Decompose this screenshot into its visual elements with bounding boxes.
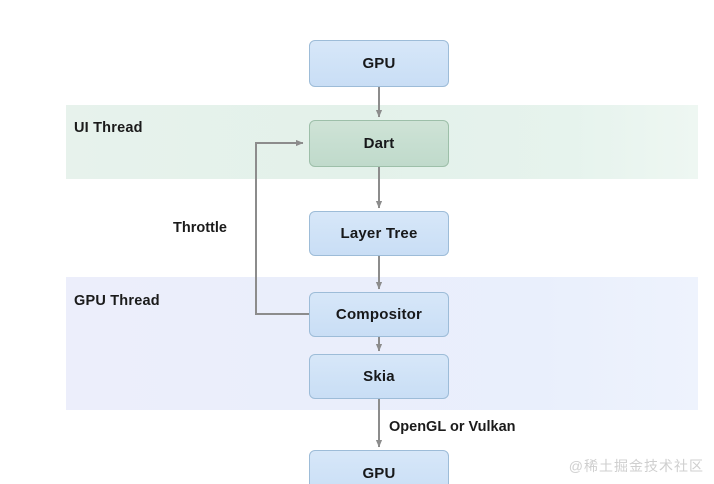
node-dart[interactable]: Dart [309,120,449,167]
node-compositor[interactable]: Compositor [309,292,449,337]
band-label-ui-thread: UI Thread [74,120,143,136]
node-gpu-bottom[interactable]: GPU [309,450,449,484]
diagram-canvas: UI Thread GPU Thread GPU Dart Layer Tree… [0,0,714,484]
edge-label-opengl-or-vulkan: OpenGL or Vulkan [389,419,516,435]
edge-label-throttle: Throttle [173,220,227,236]
band-label-gpu-thread: GPU Thread [74,293,160,309]
watermark: @稀土掘金技术社区 [569,456,704,476]
node-gpu-top[interactable]: GPU [309,40,449,87]
node-skia[interactable]: Skia [309,354,449,399]
node-layer-tree[interactable]: Layer Tree [309,211,449,256]
